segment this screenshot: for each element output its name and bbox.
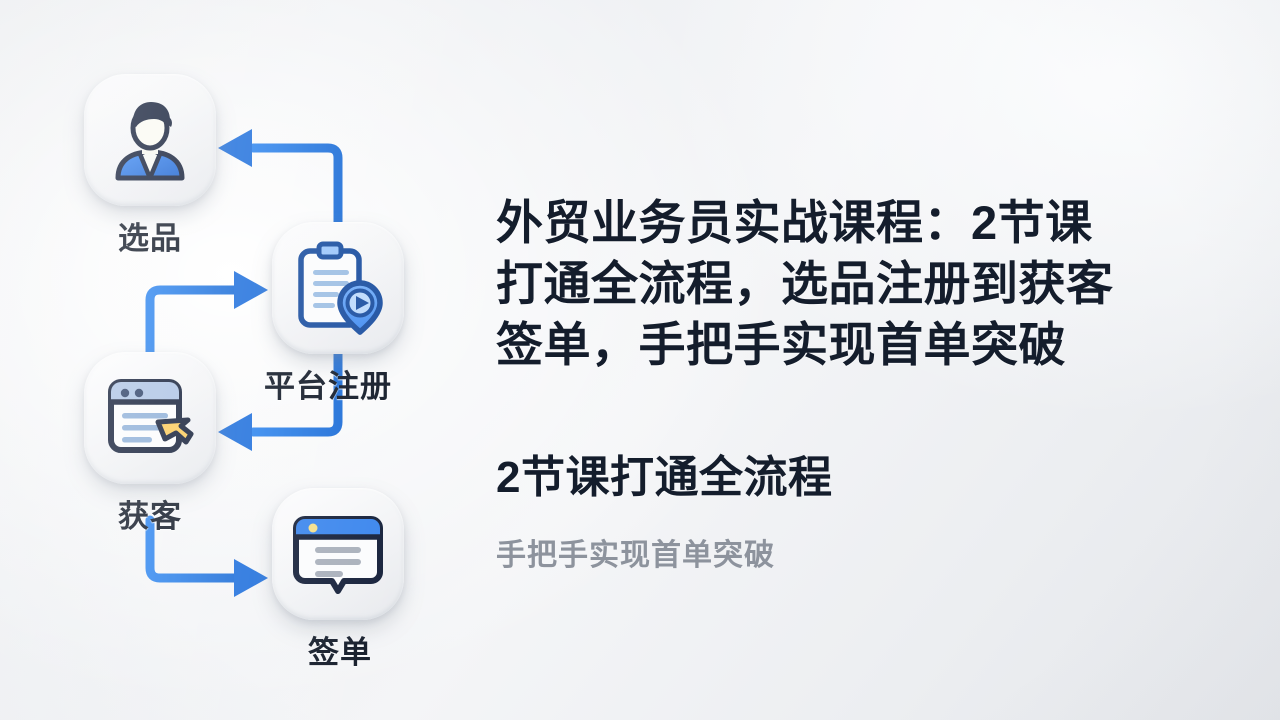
workflow-node-sign-order[interactable]: 签单: [272, 488, 404, 672]
browser-cursor-icon: [102, 370, 198, 466]
node-card: [272, 222, 404, 354]
headline-line-2: 打通全流程，选品注册到获客: [496, 253, 1256, 314]
node-card: [272, 488, 404, 620]
clipboard-location-icon: [289, 239, 387, 337]
workflow-node-acquire-customer[interactable]: 获客: [84, 352, 216, 536]
headline-line-3: 签单，手把手实现首单突破: [496, 314, 1256, 375]
connector-acquire-to-register: [150, 271, 268, 352]
node-card: [84, 352, 216, 484]
workflow-node-label: 签单: [276, 627, 404, 672]
chat-bubble-document-icon: [291, 507, 385, 601]
businessman-icon: [102, 92, 198, 188]
workflow-connectors: [0, 0, 480, 720]
subheading: 2节课打通全流程: [496, 441, 1256, 505]
promo-graphic-canvas: 选品: [0, 0, 1280, 720]
workflow-node-platform-register[interactable]: 平台注册: [272, 222, 404, 406]
node-card: [84, 74, 216, 206]
page-title: 外贸业务员实战课程：2节课 打通全流程，选品注册到获客 签单，手把手实现首单突破: [496, 192, 1256, 375]
workflow-node-label: 获客: [84, 491, 216, 536]
workflow-diagram: 选品: [0, 0, 480, 720]
connector-register-to-select: [218, 129, 338, 222]
promo-text-block: 外贸业务员实战课程：2节课 打通全流程，选品注册到获客 签单，手把手实现首单突破…: [496, 192, 1256, 574]
headline-line-1: 外贸业务员实战课程：2节课: [496, 192, 1256, 253]
workflow-node-select-product[interactable]: 选品: [84, 74, 216, 258]
workflow-node-label: 选品: [84, 213, 216, 258]
tagline: 手把手实现首单突破: [496, 530, 1256, 574]
workflow-node-label: 平台注册: [252, 361, 404, 406]
